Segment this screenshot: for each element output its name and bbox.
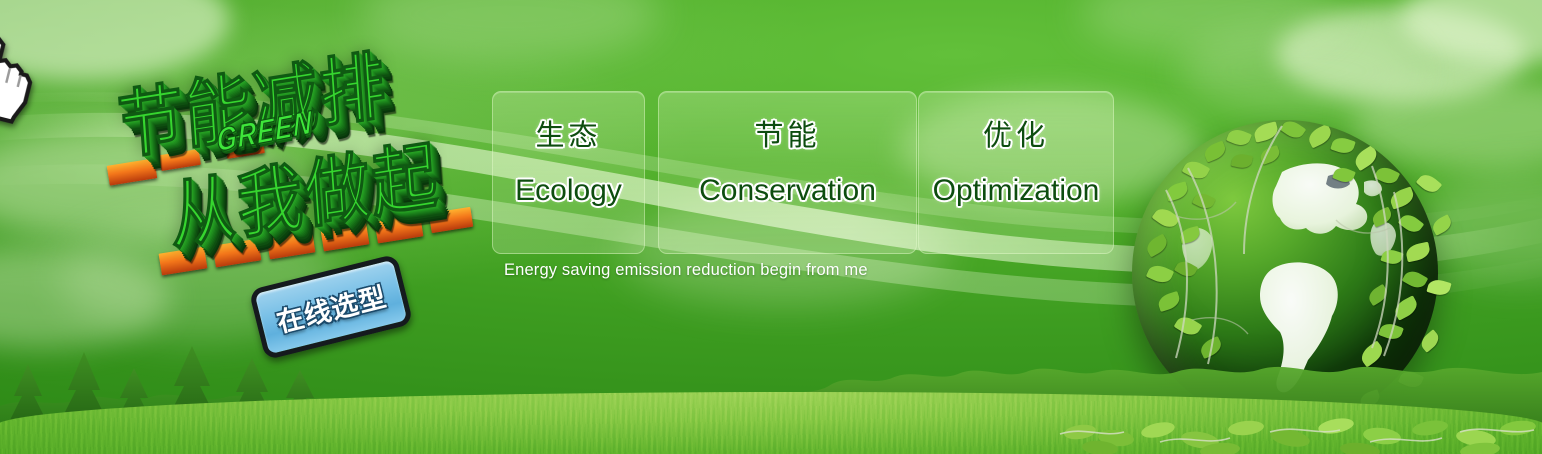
tagline: Energy saving emission reduction begin f… bbox=[504, 261, 868, 280]
ground-leaf-litter bbox=[1040, 392, 1542, 454]
feature-card-title-en: Optimization bbox=[919, 176, 1113, 206]
feature-card-title-en: Conservation bbox=[659, 176, 916, 206]
logo-artwork: 节能减排 GREEN 从我做起 bbox=[86, 34, 486, 274]
feature-card-title-en: Ecology bbox=[493, 176, 644, 206]
feature-card-title-cn: 生态 bbox=[493, 122, 644, 151]
feature-card-optimization[interactable]: 优化 Optimization bbox=[918, 91, 1114, 254]
feature-card-conservation[interactable]: 节能 Conservation bbox=[658, 91, 917, 254]
hero-banner: 节能减排 GREEN 从我做起 生态 Ecology 节能 Conservati… bbox=[0, 0, 1542, 454]
feature-card-ecology[interactable]: 生态 Ecology bbox=[492, 91, 645, 254]
feature-card-title-cn: 节能 bbox=[659, 122, 916, 151]
feature-card-title-cn: 优化 bbox=[919, 122, 1113, 151]
